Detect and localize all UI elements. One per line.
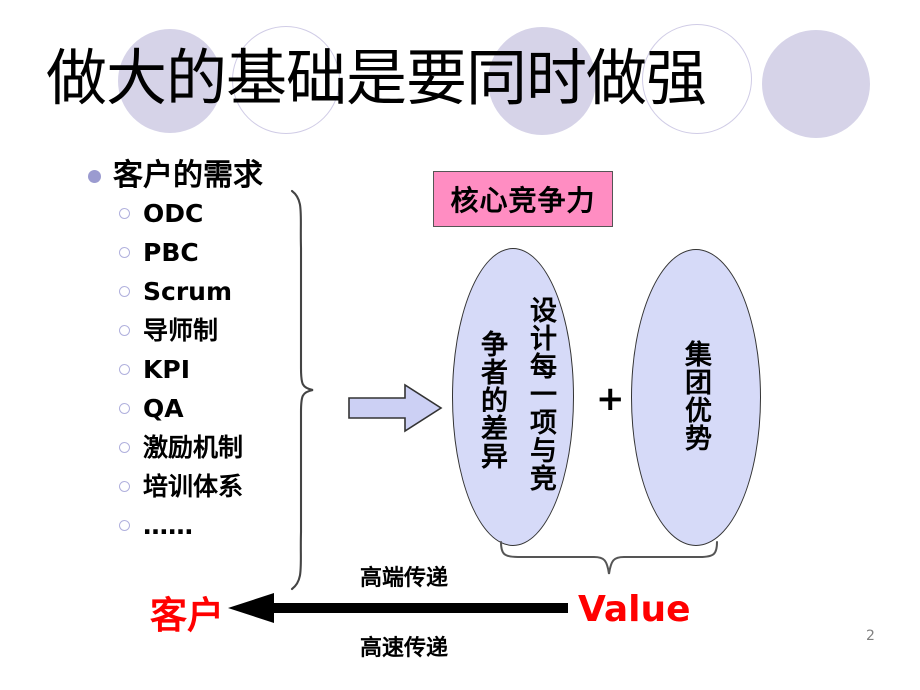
list-item-label: KPI [143, 356, 190, 383]
list-item: 培训体系 [119, 467, 318, 506]
list-item: QA [119, 389, 318, 428]
list-item-label: Scrum [143, 278, 232, 305]
hollow-circle-icon [119, 325, 130, 336]
hollow-circle-icon [119, 520, 130, 531]
value-label: Value [578, 589, 691, 630]
list-item: KPI [119, 350, 318, 389]
list-item-label: 培训体系 [143, 473, 243, 500]
hollow-circle-icon [119, 247, 130, 258]
delivery-top-label: 高端传递 [360, 560, 448, 592]
ellipse-left-text-column-left: 争者的差异 [478, 330, 505, 470]
list-item-label: QA [143, 395, 184, 422]
list-item: PBC [119, 233, 318, 272]
list-item: ODC [119, 194, 318, 233]
bullet-list: 客户的需求 ODC PBC Scrum 导师制 KPI QA 激励机制 [88, 158, 318, 545]
list-item-label: …… [143, 512, 193, 539]
bullet-main-label: 客户的需求 [113, 160, 263, 192]
ellipse-right-text-column: 集团优势 [682, 340, 709, 452]
page-title: 做大的基础是要同时做强 [46, 44, 706, 114]
hollow-circle-icon [119, 364, 130, 375]
slide-canvas: 做大的基础是要同时做强 客户的需求 ODC PBC Scrum 导师制 KPI [0, 0, 920, 690]
hollow-circle-icon [119, 403, 130, 414]
bottom-curly-brace-icon [498, 540, 720, 580]
list-item: Scrum [119, 272, 318, 311]
ellipse-left-text-column-right: 设计每一项与竞 [527, 296, 554, 492]
list-item-label: 导师制 [143, 317, 218, 344]
customer-label: 客户 [150, 585, 224, 639]
hollow-circle-icon [119, 481, 130, 492]
hollow-circle-icon [119, 208, 130, 219]
block-arrow-right-icon [347, 382, 443, 434]
left-arrow-icon [228, 592, 568, 624]
list-item: 激励机制 [119, 428, 318, 467]
list-item: …… [119, 506, 318, 545]
page-number: 2 [866, 628, 875, 644]
list-item-label: 激励机制 [143, 434, 243, 461]
list-item-label: ODC [143, 200, 203, 227]
deco-circle-5 [762, 30, 870, 138]
list-item: 导师制 [119, 311, 318, 350]
list-item-label: PBC [143, 239, 199, 266]
core-competency-label: 核心竞争力 [450, 179, 595, 219]
core-competency-box: 核心竞争力 [433, 171, 613, 227]
bullet-main-item: 客户的需求 [88, 158, 318, 194]
delivery-bottom-label: 高速传递 [360, 630, 448, 662]
hollow-circle-icon [119, 286, 130, 297]
hollow-circle-icon [119, 442, 130, 453]
filled-dot-icon [88, 170, 101, 183]
plus-operator: + [596, 382, 622, 416]
